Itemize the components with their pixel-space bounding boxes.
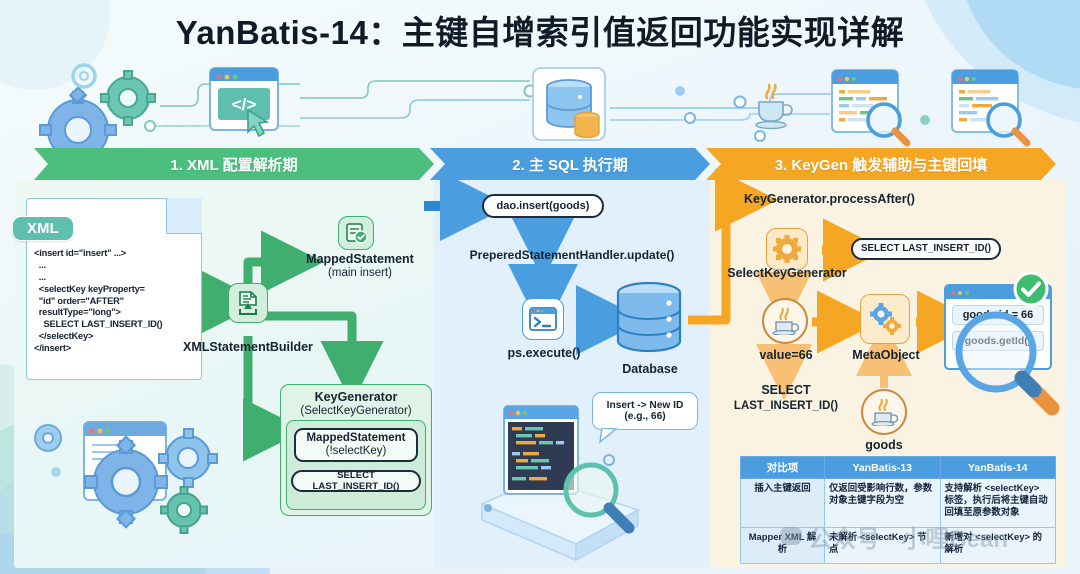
keygen-ms-sub: (!selectKey) (326, 445, 387, 457)
ps-execute-label: ps.execute() (498, 346, 590, 361)
row-0-v13: 仅返回受影响行数，参数对象主键字段为空 (825, 479, 941, 528)
java-icon (756, 85, 792, 129)
code-search-icon (832, 70, 907, 143)
decorative-gears-illustration (28, 410, 238, 570)
keygen-ms-title: MappedStatement (306, 432, 405, 444)
close-dot-icon (951, 291, 955, 295)
row-1-key: Mapper XML 解析 (741, 528, 825, 564)
xml-statement-builder-icon (228, 283, 268, 323)
table-header-row: 对比项 YanBatis-13 YanBatis-14 (741, 457, 1056, 479)
key-generator-label: KeyGenerator (SelectKeyGenerator) (282, 390, 430, 419)
xml-code-block: <insert id="insert" ...> ... ... <select… (34, 248, 200, 355)
terminal-icon (522, 298, 564, 340)
row-0-key: 插入主键返回 (741, 479, 825, 528)
gear-icon (101, 71, 155, 125)
phase-banner-2: 2. 主 SQL 执行期 (430, 148, 710, 180)
value-label: value=66 (740, 348, 832, 363)
xml-statement-builder-label: XMLStatementBuilder (178, 340, 318, 355)
result-magnifier-icon (936, 300, 1070, 434)
magnifier-icon (988, 104, 1027, 143)
phase-banner-1: 1. XML 配置解析期 (34, 148, 434, 180)
table-row: Mapper XML 解析 未解析 <selectKey> 节点 新增对 <se… (741, 528, 1056, 564)
svg-text:</>: </> (232, 95, 257, 114)
code-window-icon: </> (210, 68, 278, 136)
magnifier-icon (868, 104, 907, 143)
dao-insert-pill: dao.insert(goods) (482, 194, 604, 218)
handler-update-label: PreperedStatementHandler.update() (438, 248, 706, 262)
minimize-dot-icon (958, 291, 962, 295)
keygen-ms-text: MappedStatement (!selectKey) (306, 432, 405, 458)
th-v14: YanBatis-14 (940, 457, 1056, 479)
phase-banner-3: 3. KeyGen 触发辅助与主键回填 (706, 148, 1056, 180)
database-label: Database (604, 362, 696, 377)
select-key-generator-label: SelectKeyGenerator (722, 266, 852, 281)
page-fold-corner (166, 198, 202, 234)
maximize-dot-icon (965, 291, 969, 295)
process-after-label: KeyGenerator.processAfter() (744, 192, 1004, 207)
mapped-statement-sub: (main insert) (298, 267, 422, 281)
gear-icon (73, 65, 95, 87)
java-goods-icon (861, 389, 907, 435)
header-illustration-strip: </> (0, 58, 1080, 150)
select-key-generator-gear-icon (766, 228, 808, 270)
code-search-icon (952, 70, 1027, 143)
select-line-1: SELECT (761, 383, 810, 397)
database-icon (533, 68, 605, 140)
th-v13: YanBatis-13 (825, 457, 941, 479)
meta-object-icon (860, 294, 910, 344)
meta-object-label: MetaObject (840, 348, 932, 363)
key-generator-sub: (SelectKeyGenerator) (282, 405, 430, 419)
infographic-canvas: YanBatis-14：主键自增索引值返回功能实现详解 (0, 0, 1080, 574)
table-row: 插入主键返回 仅返回受影响行数，参数对象主键字段为空 支持解析 <selectK… (741, 479, 1056, 528)
keygen-select-sql-pill: SELECT LAST_INSERT_ID() (291, 470, 421, 492)
database-cylinder-icon (610, 282, 690, 362)
row-1-v13: 未解析 <selectKey> 节点 (825, 528, 941, 564)
page-title: YanBatis-14：主键自增索引值返回功能实现详解 (0, 6, 1080, 54)
keygen-mapped-statement-pill: MappedStatement (!selectKey) (294, 428, 418, 462)
comparison-table: 对比项 YanBatis-13 YanBatis-14 插入主键返回 仅返回受影… (740, 456, 1056, 564)
select-line-2: LAST_INSERT_ID() (730, 399, 842, 413)
key-generator-title: KeyGenerator (315, 390, 398, 404)
mapped-statement-icon (338, 216, 374, 250)
row-1-v14: 新增对 <selectKey> 的解析 (940, 528, 1056, 564)
th-item: 对比项 (741, 457, 825, 479)
xml-badge: XML (12, 216, 74, 241)
mapped-statement-title: MappedStatement (306, 252, 414, 266)
row-0-v14: 支持解析 <selectKey> 标签，执行后将主键自动回填至原参数对象 (940, 479, 1056, 528)
select-last-insert-id-pill: SELECT LAST_INSERT_ID() (851, 238, 1001, 260)
mapped-statement-label: MappedStatement (main insert) (298, 252, 422, 281)
goods-label: goods (838, 438, 930, 453)
java-value-icon (762, 298, 808, 344)
code-editor-illustration (478, 392, 664, 568)
select-last-insert-id-label: SELECT LAST_INSERT_ID() (730, 383, 842, 413)
